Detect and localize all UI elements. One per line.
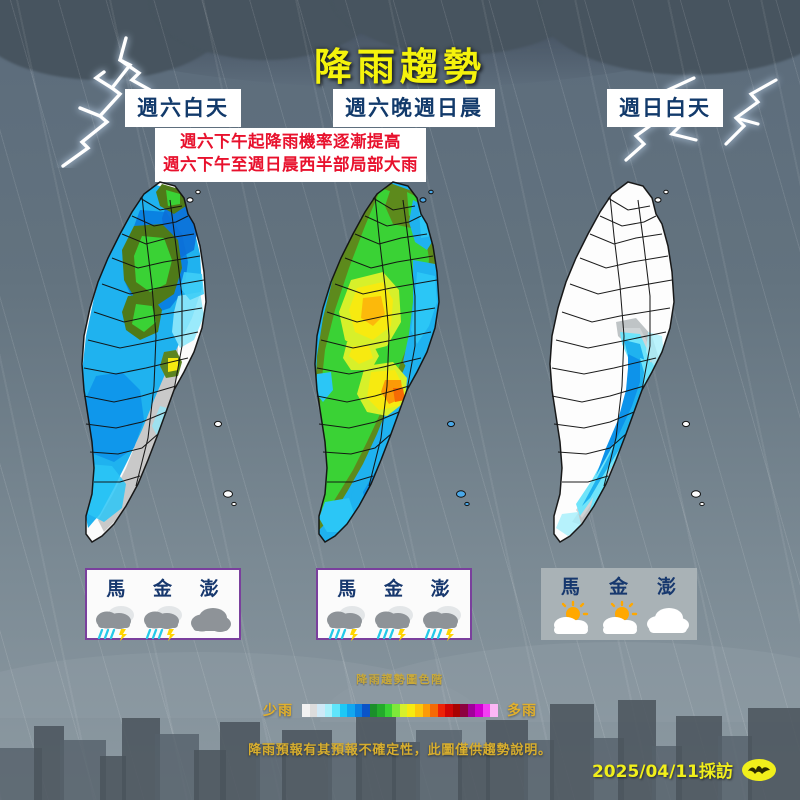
panel-header-sunday-day: 週日白天: [607, 89, 723, 127]
island-weather-icons: [87, 601, 239, 642]
rainfall-map-saturday-day[interactable]: [42, 176, 257, 566]
cloudy-white-icon: [646, 600, 690, 640]
color-scale-row: 少雨 多雨: [0, 700, 800, 720]
color-bar-swatch: [310, 704, 318, 717]
color-bar-swatch: [468, 704, 476, 717]
island-label-penghu: 澎: [200, 574, 220, 601]
color-bar-swatch: [430, 704, 438, 717]
island-label-kinmen: 金: [384, 574, 404, 601]
stamp-date: 2025/04/11採訪: [592, 757, 733, 782]
color-bar-swatch: [370, 704, 378, 717]
color-bar-swatch: [332, 704, 340, 717]
island-weather-icons: [541, 599, 697, 640]
outlying-islands-box-sunday-day[interactable]: 馬 金 澎: [541, 568, 697, 640]
color-bar-swatch: [438, 704, 446, 717]
rain-thunder-icon: [324, 602, 368, 642]
color-bar-swatch: [400, 704, 408, 717]
color-bar-swatch: [302, 704, 310, 717]
outlying-islands-box-saturday-night[interactable]: 馬 金 澎: [316, 568, 472, 640]
rain-thunder-icon: [141, 602, 185, 642]
island-labels: 馬 金 澎: [541, 568, 697, 599]
island-label-kinmen: 金: [153, 574, 173, 601]
rain-thunder-icon: [93, 602, 137, 642]
rain-thunder-icon: [420, 602, 464, 642]
rain-thunder-icon: [372, 602, 416, 642]
island-label-penghu: 澎: [657, 572, 677, 599]
outlying-islands-box-saturday-day[interactable]: 馬 金 澎: [85, 568, 241, 640]
color-bar-swatch: [415, 704, 423, 717]
alert-line-1: 週六下午起降雨機率逐漸提高: [163, 131, 418, 154]
panel-header-saturday-day: 週六白天: [125, 89, 241, 127]
color-bar-swatch: [347, 704, 355, 717]
rainfall-map-saturday-night[interactable]: [275, 176, 490, 566]
island-label-matsu: 馬: [337, 574, 357, 601]
color-bar-swatch: [453, 704, 461, 717]
sun-cloud-icon: [548, 600, 592, 640]
color-bar-swatch: [483, 704, 491, 717]
color-bar-swatch: [325, 704, 333, 717]
color-bar-swatch: [460, 704, 468, 717]
island-labels: 馬 金 澎: [87, 570, 239, 601]
color-bar-swatch: [355, 704, 363, 717]
panel-header-saturday-night: 週六晚週日晨: [333, 89, 495, 127]
island-label-penghu: 澎: [431, 574, 451, 601]
color-bar-swatch: [340, 704, 348, 717]
color-bar-swatch: [362, 704, 370, 717]
color-bar-swatch: [475, 704, 483, 717]
island-labels: 馬 金 澎: [318, 570, 470, 601]
sun-cloud-icon: [597, 600, 641, 640]
forecast-disclaimer: 降雨預報有其預報不確定性，此圖僅供趨勢說明。: [0, 739, 800, 758]
island-weather-icons: [318, 601, 470, 642]
color-scale-title: 降雨趨勢圖色階: [0, 671, 800, 687]
color-bar-swatch: [377, 704, 385, 717]
scale-low-label: 少雨: [263, 700, 293, 720]
color-bar-swatch: [445, 704, 453, 717]
island-label-matsu: 馬: [561, 572, 581, 599]
rainfall-map-sunday-day[interactable]: [510, 176, 725, 566]
color-bar-swatch: [385, 704, 393, 717]
island-label-matsu: 馬: [106, 574, 126, 601]
color-bar-swatch: [407, 704, 415, 717]
color-bar-swatch: [423, 704, 431, 717]
color-bar-swatch: [392, 704, 400, 717]
page-title: 降雨趨勢: [0, 36, 800, 91]
rain-alert-box: 週六下午起降雨機率逐漸提高 週六下午至週日晨西半部局部大雨: [155, 128, 426, 182]
source-stamp: 2025/04/11採訪: [592, 757, 776, 782]
island-label-kinmen: 金: [609, 572, 629, 599]
scale-high-label: 多雨: [507, 700, 537, 720]
rainfall-color-bar: [302, 704, 498, 717]
color-bar-swatch: [490, 704, 498, 717]
color-bar-swatch: [317, 704, 325, 717]
alert-line-2: 週六下午至週日晨西半部局部大雨: [163, 154, 418, 177]
bird-logo-icon: [742, 759, 776, 781]
cloudy-icon: [189, 602, 233, 642]
